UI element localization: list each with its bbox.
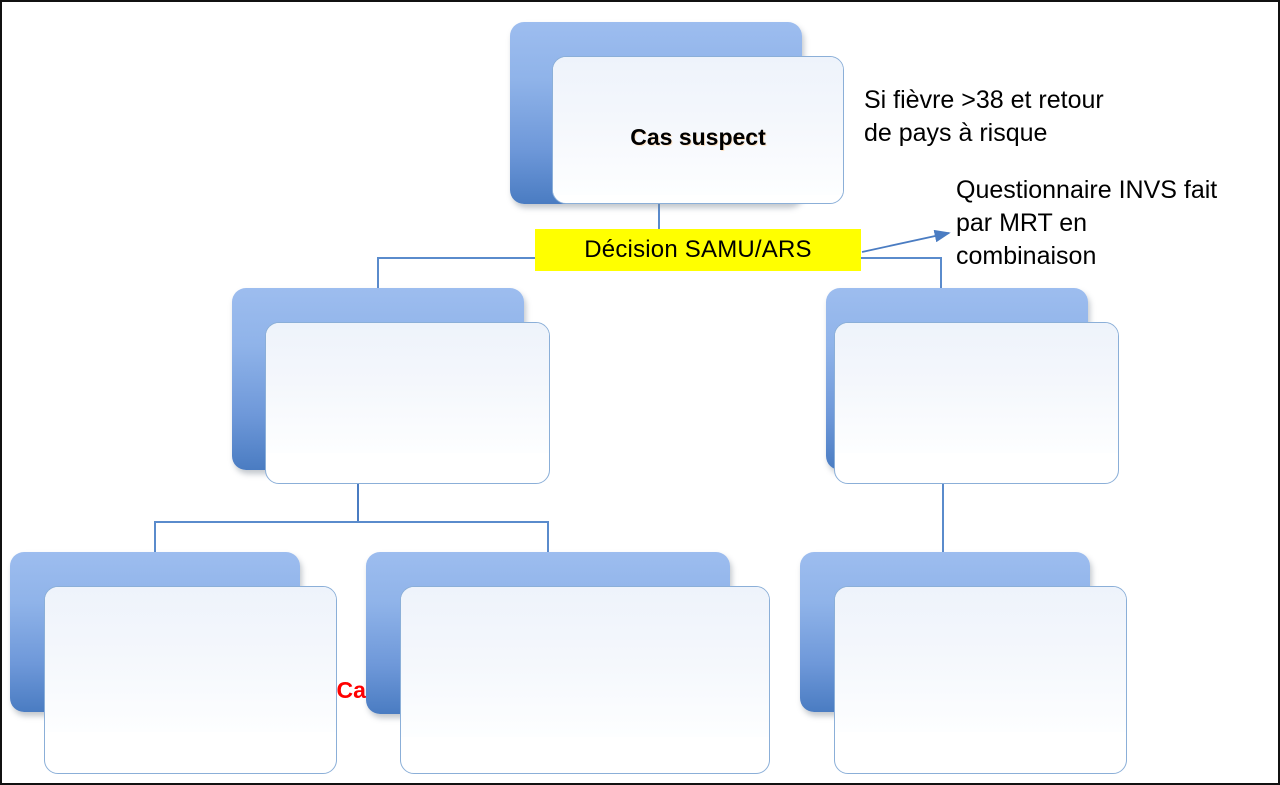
- node-gradient-wash: [835, 323, 1118, 453]
- node-gradient-wash: [266, 323, 549, 453]
- node-gradient-wash: [835, 587, 1126, 732]
- node-front-card: [400, 586, 770, 774]
- annotation-fievre: Si fièvre >38 et retour de pays à risque: [864, 84, 1184, 150]
- annotation-questionnaire: Questionnaire INVS fait par MRT en combi…: [956, 174, 1280, 273]
- node-cas-suspect[interactable]: Cas suspect: [510, 22, 802, 204]
- annotation-arrow: [862, 233, 949, 252]
- node-front-card: [834, 322, 1119, 484]
- node-label: Cas suspect: [552, 124, 844, 151]
- node-cas-exclu[interactable]: Cas exclu: [826, 288, 1088, 470]
- node-cas-possible[interactable]: Cas possible: [232, 288, 524, 470]
- node-bionettoyage[interactable]: Bionettoyage renforcé du local: [10, 552, 300, 712]
- node-gradient-wash: [401, 587, 769, 737]
- node-filiere-normale[interactable]: Filière normale de soins: [800, 552, 1090, 712]
- node-orientation-bichat-necker[interactable]: Orientation vers établissement de référe…: [366, 552, 730, 714]
- diagram-canvas: Cas suspect Cas possible Cas exclu Bione…: [0, 0, 1280, 785]
- node-front-card: [834, 586, 1127, 774]
- node-front-card: [265, 322, 550, 484]
- decision-banner[interactable]: Décision SAMU/ARS: [535, 229, 861, 271]
- node-gradient-wash: [45, 587, 336, 732]
- node-front-card: [44, 586, 337, 774]
